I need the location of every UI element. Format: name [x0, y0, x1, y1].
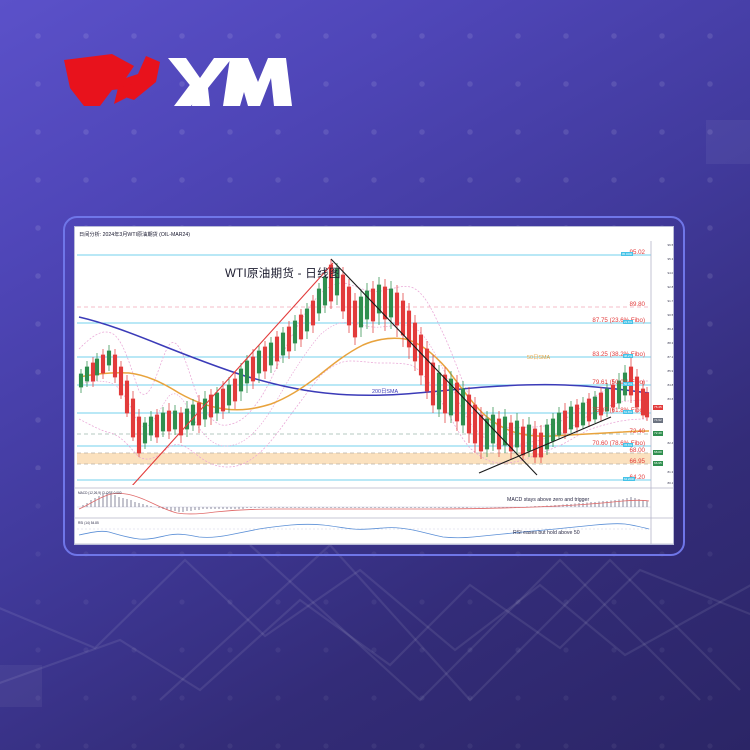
price-tag-74-92: 74.92	[653, 418, 663, 423]
xm-wordmark	[168, 58, 292, 106]
price-tag-68-00: 68.00	[653, 450, 663, 455]
fib-tag-23-6: 23.6%	[623, 320, 633, 324]
rsi-settings-label: RSI (14) 54.85	[78, 521, 99, 525]
fib-tag-64-20: 64.2000	[623, 477, 635, 481]
chart-window: 日间分析: 2024年3月WTI原油期货 (OIL-MAR24)	[74, 226, 674, 545]
chart-plot-area: WTI原油期货 - 日线图 50日SMA 200日SMA 95.02 89.80…	[75, 241, 673, 544]
y-tick-9: 85.97	[653, 369, 674, 373]
fib-tag-95-02: 95.0200	[621, 252, 633, 256]
price-tag-last: 76.45	[653, 405, 663, 410]
y-tick-2: 94.05	[653, 271, 674, 275]
chart-window-titlebar: 日间分析: 2024年3月WTI原油期货 (OIL-MAR24)	[75, 227, 673, 242]
y-tick-11: 83.67	[653, 397, 674, 401]
y-tick-1: 95.31	[653, 257, 674, 261]
y-tick-10: 84.83	[653, 383, 674, 387]
level-label-72-40: 72.40	[527, 428, 645, 435]
xm-logo	[60, 48, 300, 114]
y-tick-12: 82.47	[653, 441, 674, 445]
chart-card: 日间分析: 2024年3月WTI原油期货 (OIL-MAR24)	[63, 216, 685, 556]
y-tick-8: 87.13	[653, 355, 674, 359]
y-tick-4: 91.73	[653, 299, 674, 303]
fib-tag-78-6: 78.6%	[623, 443, 633, 447]
fib-tag-38-2: 38.2%	[623, 354, 633, 358]
xm-bull-icon	[64, 54, 160, 106]
level-label-66-95: 66.95	[527, 458, 645, 465]
macd-settings-label: MACD (12,26,9) CLOSE 0.000	[78, 491, 122, 495]
sma200-label: 200日SMA	[372, 387, 398, 395]
y-tick-3: 92.80	[653, 285, 674, 289]
y-tick-7: 88.35	[653, 341, 674, 345]
y-tick-14: 80.17	[653, 481, 674, 485]
y-tick-13: 81.33	[653, 470, 674, 474]
y-tick-6: 89.40	[653, 327, 674, 331]
level-label-68-00: 68.00	[527, 447, 645, 454]
y-tick-5: 90.57	[653, 313, 674, 317]
chart-heading: WTI原油期货 - 日线图	[225, 265, 341, 281]
fib-tag-50-0: 50.0%	[623, 382, 633, 386]
fib-tag-61-8: 61.8%	[623, 410, 633, 414]
price-tag-72-40: 72.40	[653, 431, 663, 436]
level-label-89-80: 89.80	[527, 301, 645, 308]
price-tag-66-95: 66.95	[653, 461, 663, 466]
rsi-note: RSI eases but hold above 50	[513, 530, 580, 536]
macd-note: MACD stays above zero and trigger	[507, 497, 589, 503]
y-tick-0: 96.57	[653, 243, 674, 247]
